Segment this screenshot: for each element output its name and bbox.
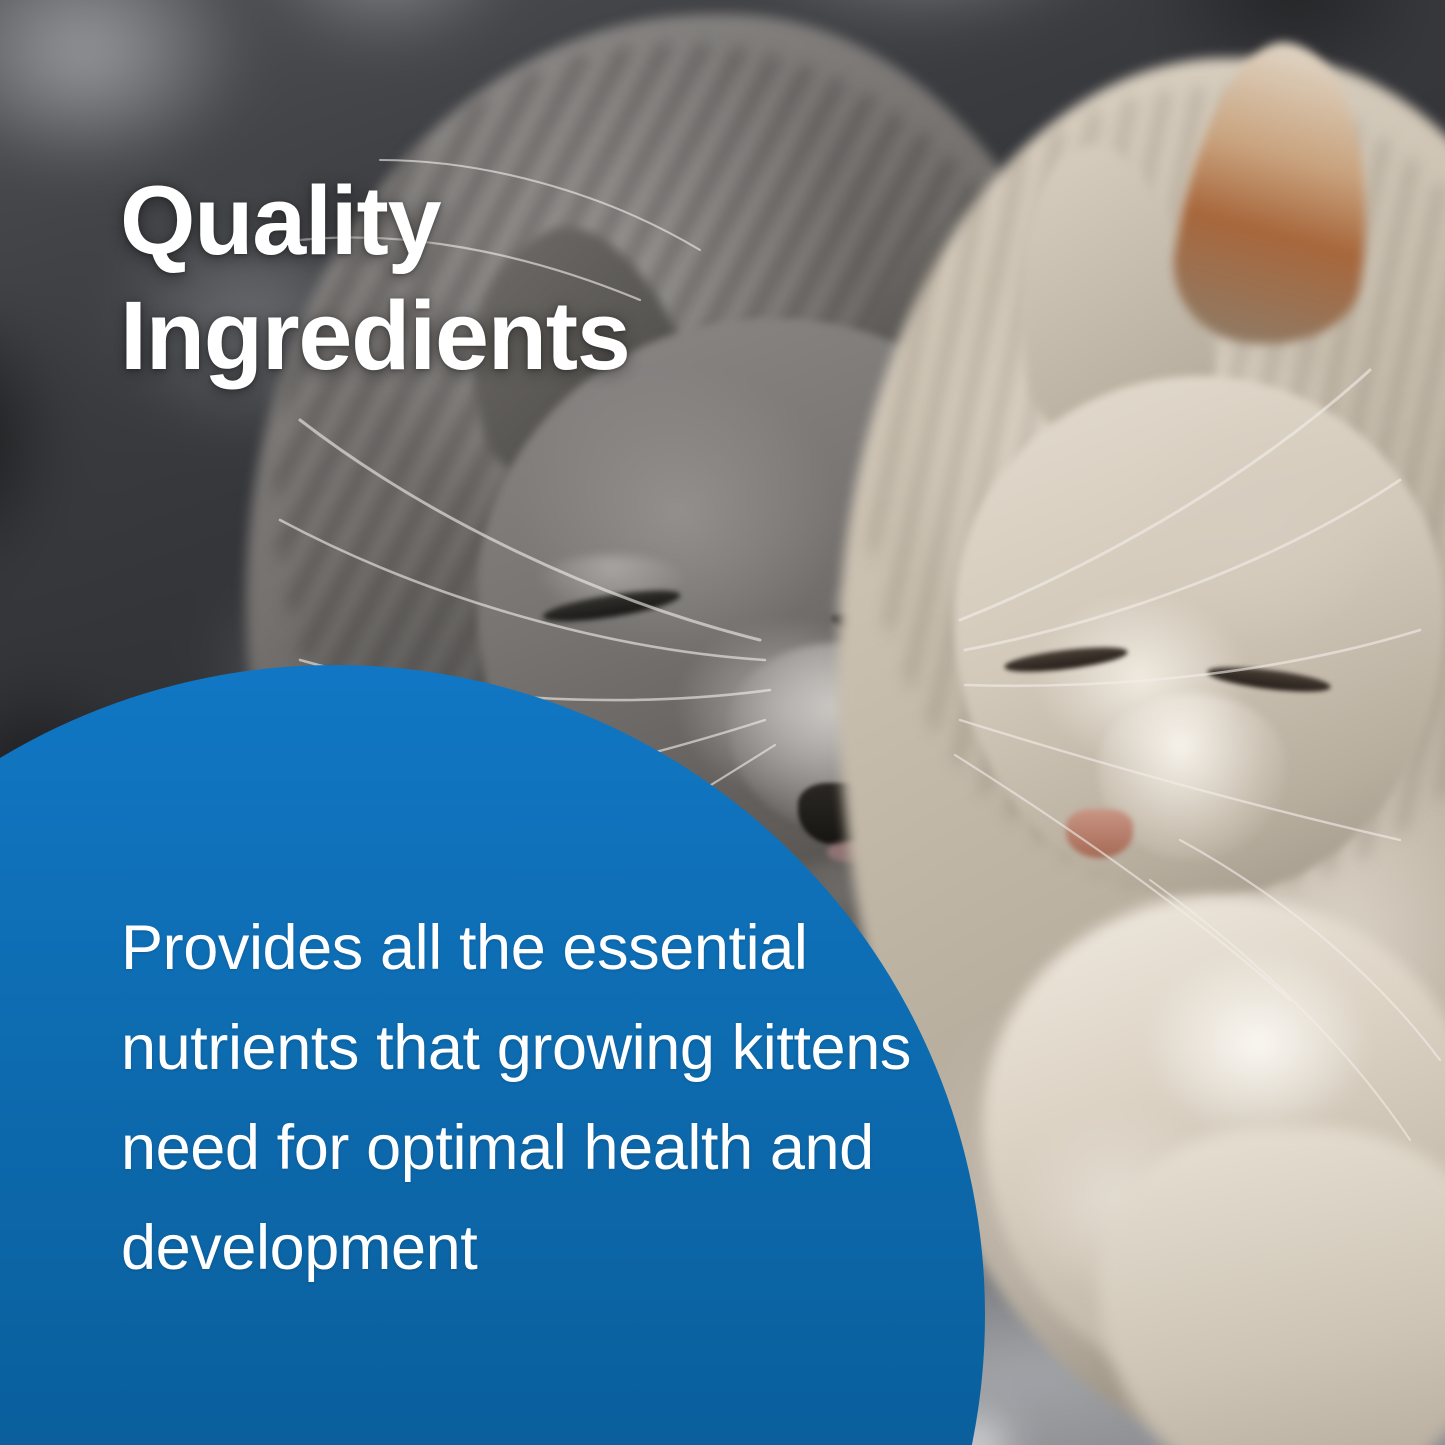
product-feature-poster: Quality Ingredients Provides all the ess…	[0, 0, 1445, 1445]
page-title: Quality Ingredients	[120, 163, 630, 393]
feature-description: Provides all the essential nutrients tha…	[121, 898, 911, 1298]
